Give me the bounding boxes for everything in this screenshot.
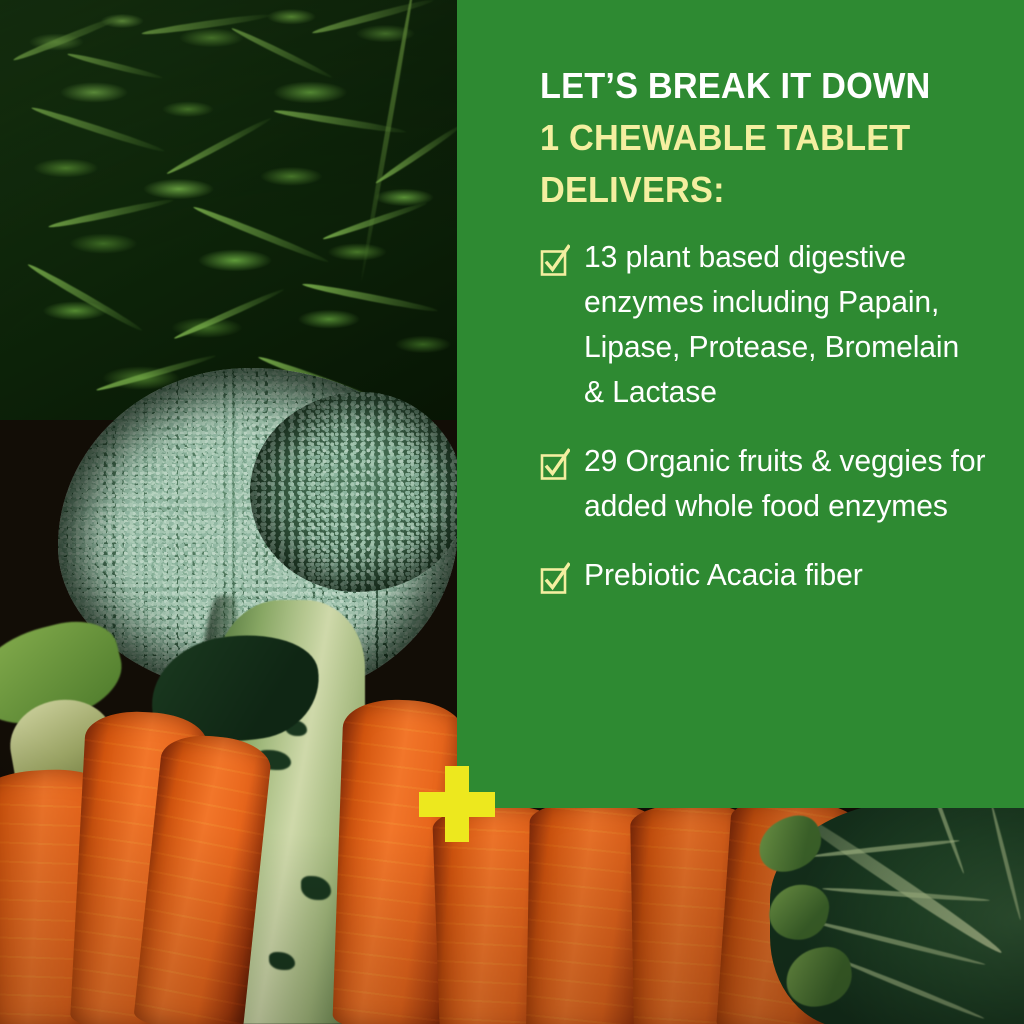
headline-block: LET’S BREAK IT DOWN 1 CHEWABLE TABLET DE… xyxy=(540,60,998,216)
checked-checkbox-icon xyxy=(540,562,570,596)
list-item-label: Prebiotic Acacia fiber xyxy=(584,552,863,597)
headline-line-2: 1 CHEWABLE TABLET xyxy=(540,112,971,164)
list-item: Prebiotic Acacia fiber xyxy=(540,552,998,597)
green-content-panel: LET’S BREAK IT DOWN 1 CHEWABLE TABLET DE… xyxy=(457,0,1024,808)
list-item: 13 plant based digestive enzymes includi… xyxy=(540,234,998,414)
carrot-tops-foliage xyxy=(0,0,470,420)
checked-checkbox-icon xyxy=(540,244,570,278)
headline-line-1: LET’S BREAK IT DOWN xyxy=(540,60,971,112)
plus-symbol-icon xyxy=(419,766,495,842)
list-item: 29 Organic fruits & veggies for added wh… xyxy=(540,438,998,528)
broccoli-floret xyxy=(250,392,465,592)
list-item-label: 29 Organic fruits & veggies for added wh… xyxy=(584,438,986,528)
benefit-list: 13 plant based digestive enzymes includi… xyxy=(540,234,998,597)
panel-content: LET’S BREAK IT DOWN 1 CHEWABLE TABLET DE… xyxy=(540,60,998,597)
checked-checkbox-icon xyxy=(540,448,570,482)
headline-line-3: DELIVERS: xyxy=(540,164,971,216)
graphic-canvas: LET’S BREAK IT DOWN 1 CHEWABLE TABLET DE… xyxy=(0,0,1024,1024)
list-item-label: 13 plant based digestive enzymes includi… xyxy=(584,234,986,414)
